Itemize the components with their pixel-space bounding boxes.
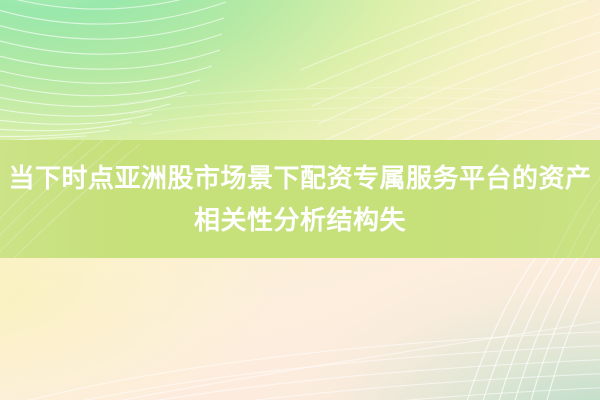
headline-line-2: 相关性分析结构失 xyxy=(194,200,406,240)
headline-band: 当下时点亚洲股市场景下配资专属服务平台的资产 相关性分析结构失 xyxy=(0,140,600,258)
headline-line-1: 当下时点亚洲股市场景下配资专属服务平台的资产 xyxy=(8,158,591,198)
banner-canvas: 当下时点亚洲股市场景下配资专属服务平台的资产 相关性分析结构失 xyxy=(0,0,600,400)
headline-text-block: 当下时点亚洲股市场景下配资专属服务平台的资产 相关性分析结构失 xyxy=(0,140,600,258)
